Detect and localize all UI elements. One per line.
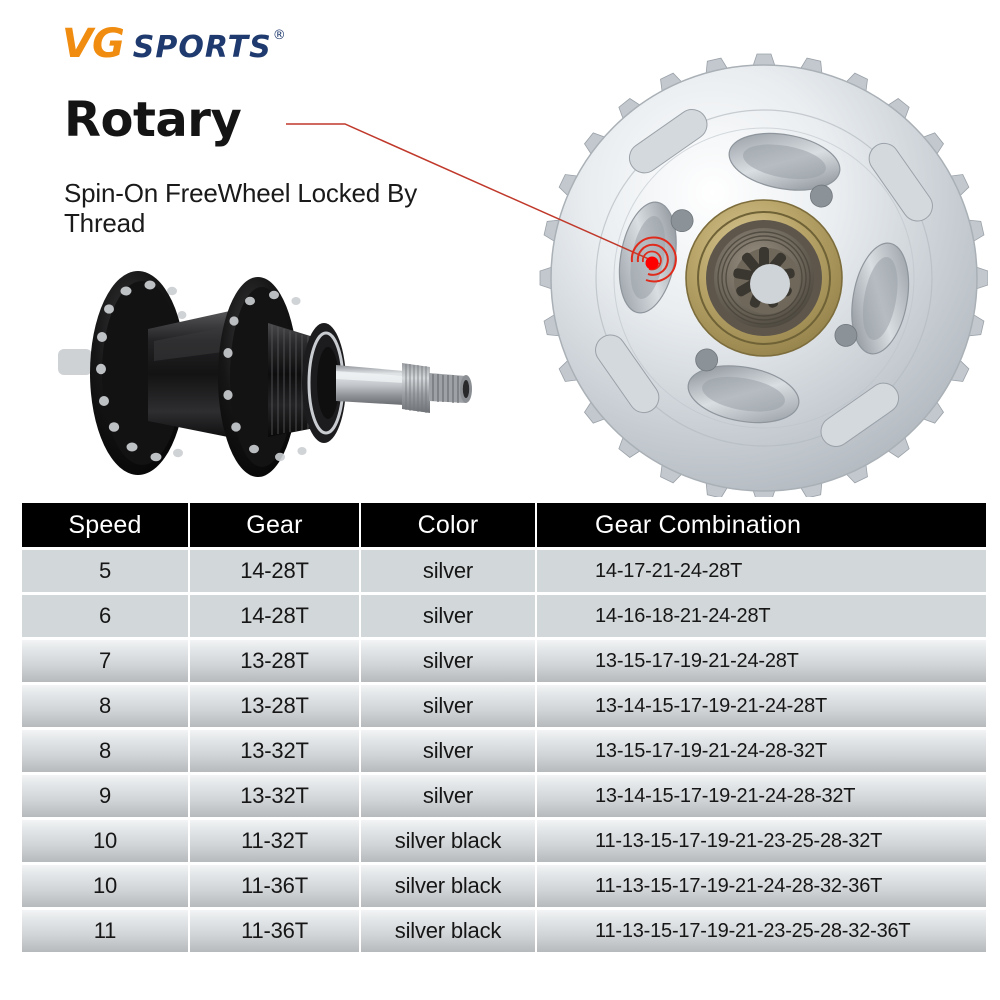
freewheel-illustration (538, 52, 988, 497)
cell-gear: 13-28T (190, 640, 359, 682)
brand-logo-vg: VG (62, 24, 124, 64)
cell-gear: 11-36T (190, 865, 359, 907)
cell-speed: 8 (22, 685, 188, 727)
page-subtitle: Spin-On FreeWheel Locked By Thread (64, 178, 464, 239)
cell-gear: 13-32T (190, 730, 359, 772)
table-body: 5 14-28T silver 14-17-21-24-28T 6 14-28T… (22, 550, 986, 952)
cell-gear-combination: 13-15-17-19-21-24-28T (537, 640, 986, 682)
specification-table: Speed Gear Color Gear Combination 5 14-2… (20, 500, 988, 955)
column-header-color: Color (361, 503, 535, 547)
cell-speed: 5 (22, 550, 188, 592)
table-row: 10 11-32T silver black 11-13-15-17-19-21… (22, 820, 986, 862)
page-title: Rotary (64, 96, 241, 144)
cell-gear-combination: 13-14-15-17-19-21-24-28T (537, 685, 986, 727)
cell-color: silver black (361, 910, 535, 952)
cell-gear: 13-32T (190, 775, 359, 817)
cell-gear: 13-28T (190, 685, 359, 727)
cell-gear: 11-32T (190, 820, 359, 862)
cell-gear-combination: 11-13-15-17-19-21-23-25-28-32-36T (537, 910, 986, 952)
cell-color: silver (361, 595, 535, 637)
cell-color: silver (361, 730, 535, 772)
cell-color: silver black (361, 865, 535, 907)
cell-speed: 8 (22, 730, 188, 772)
cell-gear-combination: 13-14-15-17-19-21-24-28-32T (537, 775, 986, 817)
cell-color: silver (361, 550, 535, 592)
table-row: 10 11-36T silver black 11-13-15-17-19-21… (22, 865, 986, 907)
cell-gear-combination: 11-13-15-17-19-21-23-25-28-32T (537, 820, 986, 862)
column-header-speed: Speed (22, 503, 188, 547)
column-header-gear-combination: Gear Combination (537, 503, 986, 547)
table-row: 8 13-28T silver 13-14-15-17-19-21-24-28T (22, 685, 986, 727)
cell-gear: 14-28T (190, 595, 359, 637)
cell-speed: 11 (22, 910, 188, 952)
table-row: 5 14-28T silver 14-17-21-24-28T (22, 550, 986, 592)
cell-speed: 9 (22, 775, 188, 817)
hub-illustration (52, 245, 482, 485)
column-header-gear: Gear (190, 503, 359, 547)
cell-gear-combination: 14-17-21-24-28T (537, 550, 986, 592)
brand-logo: VG SPORTS ® (62, 24, 285, 74)
cell-speed: 7 (22, 640, 188, 682)
table-row: 6 14-28T silver 14-16-18-21-24-28T (22, 595, 986, 637)
registered-trademark-icon: ® (273, 28, 286, 43)
brand-logo-sports: SPORTS (133, 33, 272, 63)
cell-color: silver (361, 640, 535, 682)
cell-color: silver black (361, 820, 535, 862)
cell-speed: 10 (22, 865, 188, 907)
freewheel-product-image (538, 52, 988, 497)
table-header-row: Speed Gear Color Gear Combination (22, 503, 986, 547)
table-row: 8 13-32T silver 13-15-17-19-21-24-28-32T (22, 730, 986, 772)
hub-product-image (52, 245, 482, 485)
cell-gear-combination: 14-16-18-21-24-28T (537, 595, 986, 637)
table-row: 11 11-36T silver black 11-13-15-17-19-21… (22, 910, 986, 952)
table-row: 7 13-28T silver 13-15-17-19-21-24-28T (22, 640, 986, 682)
cell-speed: 6 (22, 595, 188, 637)
table-row: 9 13-32T silver 13-14-15-17-19-21-24-28-… (22, 775, 986, 817)
cell-color: silver (361, 775, 535, 817)
cell-speed: 10 (22, 820, 188, 862)
cell-gear-combination: 11-13-15-17-19-21-24-28-32-36T (537, 865, 986, 907)
cell-gear: 14-28T (190, 550, 359, 592)
cell-color: silver (361, 685, 535, 727)
cell-gear: 11-36T (190, 910, 359, 952)
cell-gear-combination: 13-15-17-19-21-24-28-32T (537, 730, 986, 772)
